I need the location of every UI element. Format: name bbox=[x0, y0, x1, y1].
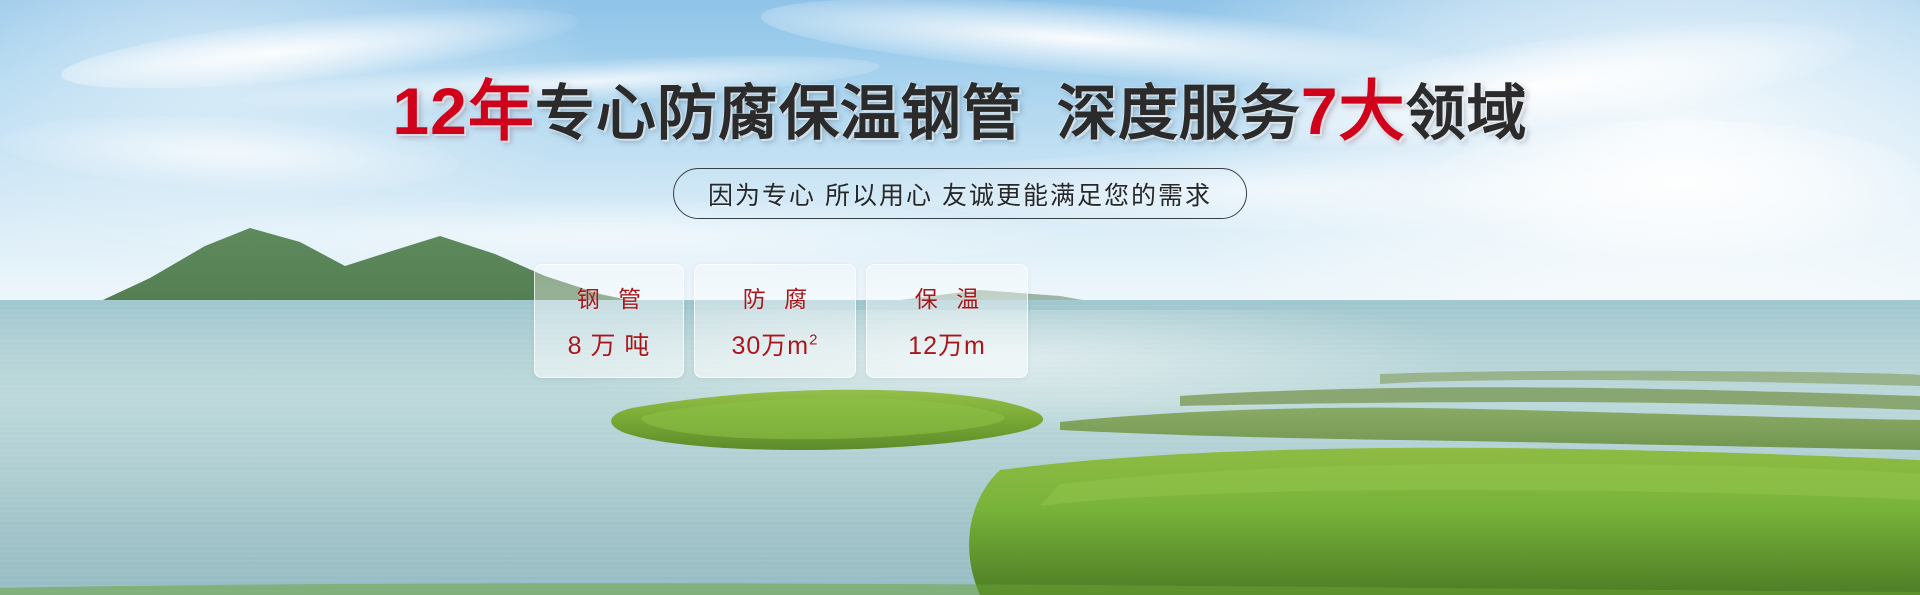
stat-card-unit-sup: 2 bbox=[809, 332, 818, 349]
headline-fields: 领域 bbox=[1406, 80, 1528, 147]
headline-service: 深度服务 bbox=[1057, 80, 1301, 147]
stat-card-value: 30万m2 bbox=[732, 326, 819, 362]
stat-card-title: 保 温 bbox=[909, 280, 985, 314]
page-title: 12年专心防腐保温钢管深度服务7大领域 bbox=[0, 78, 1920, 144]
headline-fields-count: 7大 bbox=[1301, 74, 1406, 148]
banner-content: 12年专心防腐保温钢管深度服务7大领域 因为专心 所以用心 友诚更能满足您的需求… bbox=[0, 0, 1920, 595]
stat-card-title: 防 腐 bbox=[737, 280, 813, 314]
stat-card-anticorrosion[interactable]: 防 腐 30万m2 bbox=[694, 264, 856, 378]
subtitle-text: 因为专心 所以用心 友诚更能满足您的需求 bbox=[708, 176, 1212, 212]
stat-card-steel-pipe[interactable]: 钢 管 8 万 吨 bbox=[534, 264, 684, 378]
stat-card-value: 12万m bbox=[908, 326, 986, 362]
subtitle-badge: 因为专心 所以用心 友诚更能满足您的需求 bbox=[673, 168, 1247, 219]
stat-card-title: 钢 管 bbox=[571, 280, 647, 314]
hero-banner: 12年专心防腐保温钢管深度服务7大领域 因为专心 所以用心 友诚更能满足您的需求… bbox=[0, 0, 1920, 595]
stat-card-list: 钢 管 8 万 吨 防 腐 30万m2 保 温 12万m bbox=[534, 264, 1028, 378]
headline-years: 12年 bbox=[392, 74, 534, 148]
stat-card-value: 8 万 吨 bbox=[568, 326, 651, 362]
stat-card-insulation[interactable]: 保 温 12万m bbox=[866, 264, 1028, 378]
headline-main: 专心防腐保温钢管 bbox=[535, 80, 1023, 147]
